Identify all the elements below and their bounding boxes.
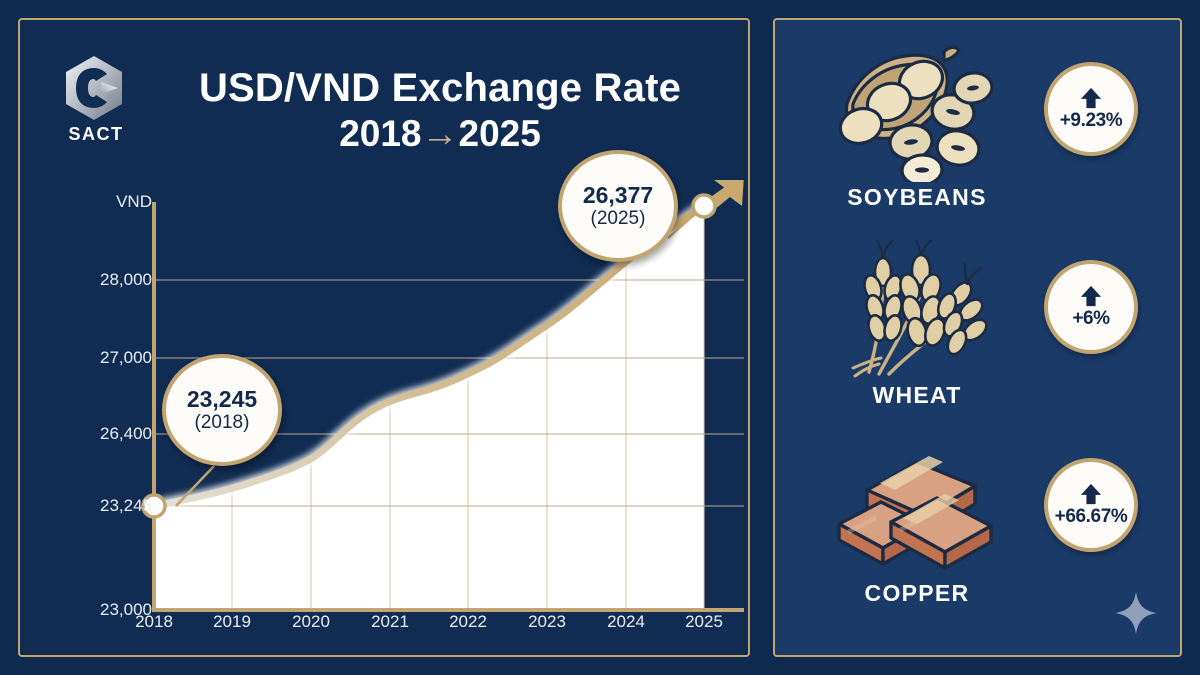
callout-start-value[interactable]: 23,245 (2018) xyxy=(162,354,282,466)
title-block: USD/VND Exchange Rate 2018→2025 xyxy=(150,66,730,155)
change-value-wheat: +6% xyxy=(1072,308,1109,330)
callout-start-year: (2018) xyxy=(195,412,250,434)
x-tick-2019: 2019 xyxy=(196,612,268,632)
four-point-star-icon xyxy=(1114,591,1158,635)
change-badge-copper[interactable]: +66.67% xyxy=(1044,458,1138,552)
change-value-copper: +66.67% xyxy=(1055,506,1128,528)
data-point-2025[interactable] xyxy=(693,195,715,217)
x-axis-labels: 2018 2019 2020 2021 2022 2023 2024 2025 xyxy=(54,612,744,646)
y-tick-27000: 27,000 xyxy=(56,348,152,368)
x-tick-2025: 2025 xyxy=(668,612,740,632)
commodities-panel: SOYBEANS +9.23% xyxy=(773,18,1182,657)
arrow-right-icon: → xyxy=(422,113,459,154)
commodity-row-soybeans[interactable]: SOYBEANS +9.23% xyxy=(775,34,1184,240)
page-subtitle: 2018→2025 xyxy=(150,113,730,156)
y-tick-26400: 26,400 xyxy=(56,424,152,444)
hexagon-c-logo-icon xyxy=(62,54,126,122)
wheat-stalk-icon xyxy=(825,240,1010,380)
commodity-label-copper: COPPER xyxy=(797,580,1037,607)
subtitle-to: 2025 xyxy=(459,113,541,154)
callout-end-value[interactable]: 26,377 (2025) xyxy=(558,150,678,262)
change-badge-soybeans[interactable]: +9.23% xyxy=(1044,62,1138,156)
x-tick-2023: 2023 xyxy=(511,612,583,632)
brand-logo: SACT xyxy=(54,54,142,150)
callout-start-number: 23,245 xyxy=(187,387,257,411)
x-tick-2022: 2022 xyxy=(432,612,504,632)
copper-bars-icon xyxy=(825,438,1010,578)
soybean-pod-icon xyxy=(825,42,1010,182)
arrow-up-icon xyxy=(1080,483,1102,505)
x-tick-2018: 2018 xyxy=(118,612,190,632)
change-value-soybeans: +9.23% xyxy=(1060,110,1123,132)
y-tick-23245: 23,245 xyxy=(56,496,152,516)
arrow-up-icon xyxy=(1080,87,1102,109)
callout-end-number: 26,377 xyxy=(583,183,653,207)
commodity-label-wheat: WHEAT xyxy=(797,382,1037,409)
subtitle-from: 2018 xyxy=(339,113,421,154)
commodity-label-soybeans: SOYBEANS xyxy=(797,184,1037,211)
y-axis-labels: VND 28,000 27,000 26,400 23,245 23,000 xyxy=(54,180,152,620)
x-tick-2021: 2021 xyxy=(354,612,426,632)
brand-name: SACT xyxy=(54,124,138,145)
x-tick-2020: 2020 xyxy=(275,612,347,632)
page-title: USD/VND Exchange Rate xyxy=(150,66,730,111)
callout-end-year: (2025) xyxy=(591,208,646,230)
x-tick-2024: 2024 xyxy=(590,612,662,632)
infographic-canvas: SACT USD/VND Exchange Rate 2018→2025 xyxy=(0,0,1200,675)
chart-panel: SACT USD/VND Exchange Rate 2018→2025 xyxy=(18,18,750,657)
commodity-row-wheat[interactable]: WHEAT +6% xyxy=(775,232,1184,438)
y-axis-unit: VND xyxy=(56,192,152,212)
change-badge-wheat[interactable]: +6% xyxy=(1044,260,1138,354)
y-tick-28000: 28,000 xyxy=(56,270,152,290)
arrow-up-icon xyxy=(1080,285,1102,307)
